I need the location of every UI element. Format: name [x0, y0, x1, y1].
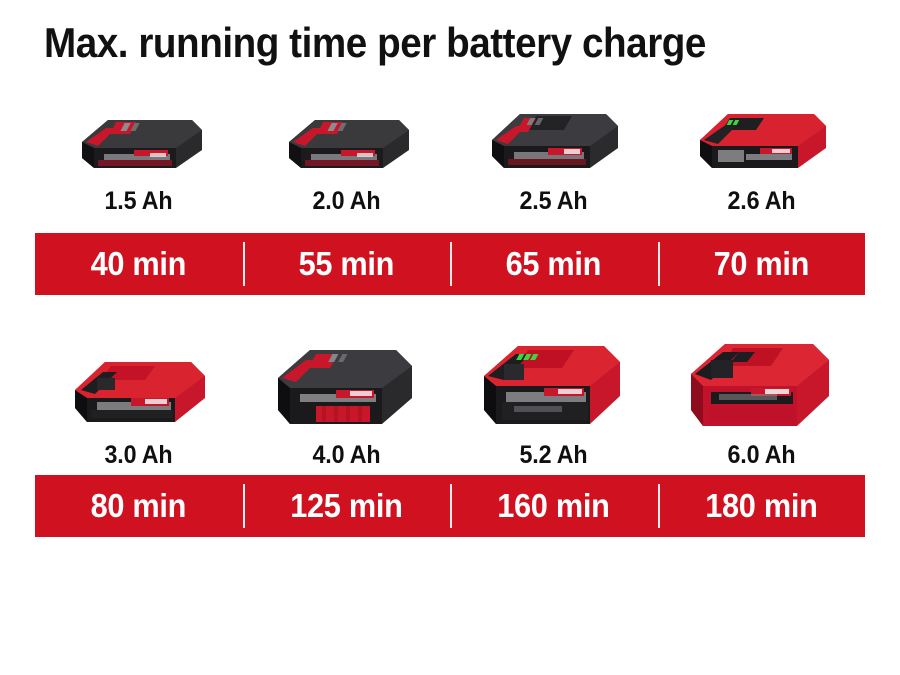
runtime-value: 55 min — [298, 246, 394, 282]
battery-2p6ah-icon — [684, 96, 839, 183]
battery-capacity-label: 2.5 Ah — [520, 187, 588, 215]
battery-cell-2p5ah: 2.5 Ah — [450, 96, 658, 215]
battery-cell-2p0ah: 2.0 Ah — [243, 96, 451, 215]
runtime-value: 70 min — [713, 246, 809, 282]
runtime-value: 40 min — [91, 246, 187, 282]
runtime-cell-1p5ah: 40 min — [35, 233, 243, 295]
runtime-value: 65 min — [506, 246, 602, 282]
runtime-cell-5p2ah: 160 min — [450, 475, 658, 537]
infographic-canvas: Max. running time per battery charge — [0, 0, 900, 675]
runtime-value: 180 min — [705, 488, 817, 524]
battery-6p0ah-icon — [677, 334, 845, 437]
battery-cell-1p5ah: 1.5 Ah — [35, 96, 243, 215]
runtime-cell-2p0ah: 55 min — [243, 233, 451, 295]
page-title: Max. running time per battery charge — [44, 18, 808, 68]
battery-cell-6p0ah: 6.0 Ah — [658, 334, 866, 469]
battery-cell-2p6ah: 2.6 Ah — [658, 96, 866, 215]
battery-cell-4p0ah: 4.0 Ah — [243, 334, 451, 469]
battery-5p2ah-icon — [470, 334, 638, 437]
runtime-cell-3p0ah: 80 min — [35, 475, 243, 537]
runtime-cell-4p0ah: 125 min — [243, 475, 451, 537]
battery-row-2: 3.0 Ah — [35, 334, 865, 469]
battery-capacity-label: 1.5 Ah — [105, 187, 173, 215]
runtime-cell-2p5ah: 65 min — [450, 233, 658, 295]
runtime-cell-6p0ah: 180 min — [658, 475, 866, 537]
runtime-value: 160 min — [498, 488, 610, 524]
runtime-value: 80 min — [91, 488, 187, 524]
battery-capacity-label: 6.0 Ah — [727, 441, 795, 469]
battery-3p0ah-icon — [59, 344, 219, 437]
battery-4p0ah-icon — [264, 336, 429, 437]
battery-cell-3p0ah: 3.0 Ah — [35, 334, 243, 469]
runtime-value: 125 min — [290, 488, 402, 524]
runtime-cell-2p6ah: 70 min — [658, 233, 866, 295]
battery-1p5ah-icon — [64, 98, 214, 183]
battery-row-1: 1.5 Ah — [35, 96, 865, 215]
battery-capacity-label: 4.0 Ah — [312, 441, 380, 469]
runtime-bar-row-1: 40 min 55 min 65 min 70 min — [35, 233, 865, 295]
runtime-bar-row-2: 80 min 125 min 160 min 180 min — [35, 475, 865, 537]
battery-capacity-label: 2.6 Ah — [727, 187, 795, 215]
battery-capacity-label: 2.0 Ah — [312, 187, 380, 215]
battery-2p5ah-icon — [476, 96, 631, 183]
battery-cell-5p2ah: 5.2 Ah — [450, 334, 658, 469]
battery-capacity-label: 3.0 Ah — [105, 441, 173, 469]
battery-2p0ah-icon — [271, 98, 421, 183]
battery-capacity-label: 5.2 Ah — [520, 441, 588, 469]
